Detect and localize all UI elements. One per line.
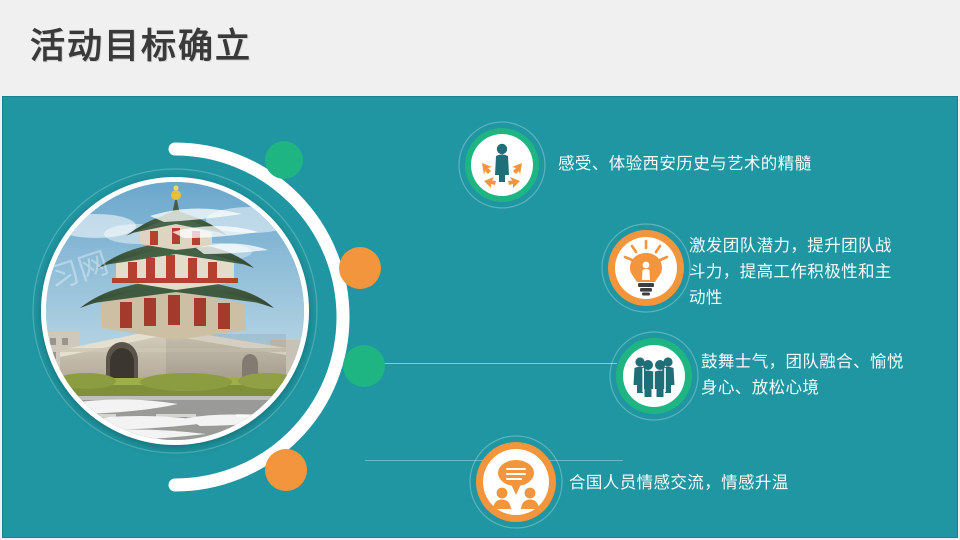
page-title: 活动目标确立 bbox=[30, 22, 252, 72]
arc-dot-1[interactable] bbox=[265, 141, 303, 179]
slide-root: 活动目标确立 bbox=[0, 0, 960, 540]
arc-and-photo-group: 习网 bbox=[13, 105, 413, 525]
goal-item-1[interactable]: 感受、体验西安历史与艺术的精髓 bbox=[458, 121, 928, 213]
xian-bell-tower-photo: 习网 bbox=[41, 177, 309, 445]
title-bar: 活动目标确立 bbox=[0, 0, 960, 96]
goal-item-2[interactable]: 激发团队潜力，提升团队战 斗力，提高工作积极性和主 动性 bbox=[601, 223, 958, 319]
goal-item-4[interactable]: 合国人员情感交流，情感升温 bbox=[469, 435, 939, 533]
person-inward-arrows-icon bbox=[458, 121, 546, 209]
lightbulb-idea-icon bbox=[601, 223, 691, 313]
goal-item-1-label: 感受、体验西安历史与艺术的精髓 bbox=[558, 151, 918, 177]
goal-item-3-label: 鼓舞士气，团队融合、愉悦 身心、放松心境 bbox=[701, 349, 958, 401]
content-panel: 习网 bbox=[2, 96, 958, 538]
arc-dot-2[interactable] bbox=[339, 247, 381, 289]
arc-dot-3[interactable] bbox=[343, 345, 385, 387]
goal-item-3[interactable]: 鼓舞士气，团队融合、愉悦 身心、放松心境 bbox=[609, 331, 958, 423]
team-group-people-icon bbox=[609, 331, 699, 421]
arc-dot-4[interactable] bbox=[265, 449, 307, 491]
goal-item-2-label: 激发团队潜力，提升团队战 斗力，提高工作积极性和主 动性 bbox=[689, 233, 958, 311]
speech-bubble-two-people-icon bbox=[469, 435, 563, 529]
goal-item-4-label: 合国人员情感交流，情感升温 bbox=[569, 470, 929, 496]
